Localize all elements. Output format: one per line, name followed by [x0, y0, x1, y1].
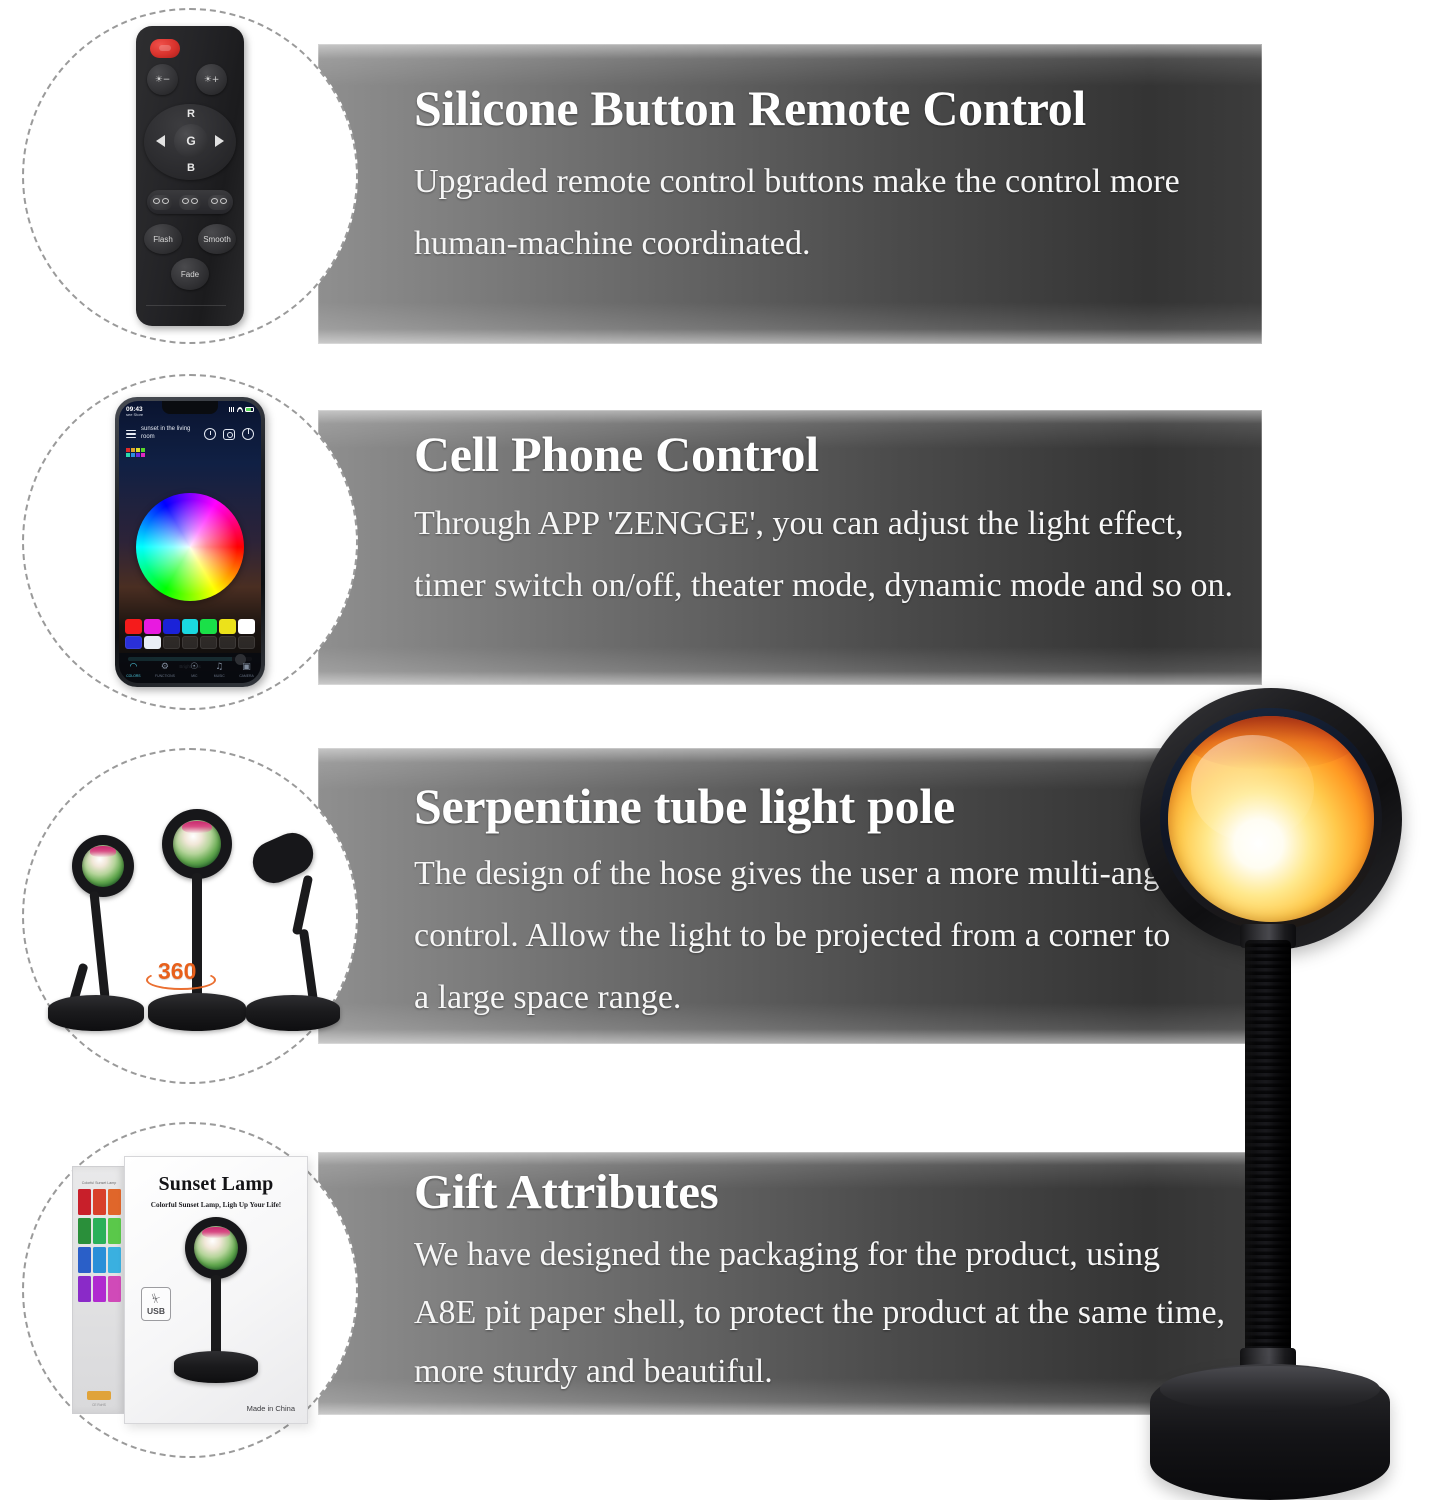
lamp-middle — [144, 809, 248, 1031]
product-photo-remote-control: ☀− ☀+ R G B Flash Smooth Fade — [22, 8, 358, 344]
mini-swatch — [141, 453, 145, 457]
feature-heading-4: Gift Attributes — [414, 1166, 1242, 1218]
feature-body-line: a large space range. — [414, 967, 1242, 1029]
usb-connector-icon: ⏧ — [152, 1293, 161, 1304]
package-swatch — [108, 1276, 121, 1302]
arrow-right-icon — [215, 135, 224, 147]
app-header-icons — [204, 428, 254, 440]
lamp-base — [148, 993, 246, 1031]
preset-button[interactable] — [238, 636, 255, 649]
nav-label: CAMERA — [239, 674, 254, 678]
brightness-down-icon: ☀− — [147, 64, 178, 95]
app-bottom-nav: ◠ COLORS ⚙ FUNCTIONS ☉ MIC ♫ MUSIC ▣ C — [119, 653, 261, 683]
swatch-cyan[interactable] — [182, 619, 199, 634]
lamp-gooseneck — [89, 891, 109, 999]
product-photo-lamp-trio: 360 — [22, 748, 358, 1084]
package-side-title: Colorful Sunset Lamp — [76, 1181, 122, 1185]
hero-lamp-ring — [1160, 708, 1382, 930]
mini-swatch — [141, 448, 145, 452]
package-swatch — [93, 1218, 106, 1244]
lamp-gooseneck — [292, 875, 313, 936]
preset-button[interactable] — [219, 636, 236, 649]
package-swatch-row — [76, 1218, 122, 1244]
product-photo-phone-app: 09:43 see Store sunset in the living roo… — [22, 374, 358, 710]
mini-swatch — [136, 448, 140, 452]
feature-body-line: more sturdy and beautiful. — [414, 1343, 1242, 1401]
preset-button[interactable] — [182, 636, 199, 649]
feature-body-line: control. Allow the light to be projected… — [414, 905, 1242, 967]
nav-label: FUNCTIONS — [155, 674, 175, 678]
nav-item-functions[interactable]: ⚙ FUNCTIONS — [155, 662, 175, 678]
nav-item-music[interactable]: ♫ MUSIC — [214, 662, 225, 678]
remote-control-device: ☀− ☀+ R G B Flash Smooth Fade — [136, 26, 244, 326]
mini-swatch — [126, 453, 130, 457]
lamp-right — [246, 835, 340, 1031]
swatch-red[interactable] — [125, 619, 142, 634]
lamp-lens — [173, 820, 221, 868]
camera-icon: ▣ — [241, 662, 251, 672]
package-front-panel: Sunset Lamp Colorful Sunset Lamp, Ligh U… — [124, 1156, 308, 1424]
mini-swatch-row — [126, 453, 148, 457]
package-swatch — [93, 1276, 106, 1302]
brightness-up-icon: ☀+ — [196, 64, 227, 95]
feature-body-line: A8E pit paper shell, to protect the prod… — [414, 1284, 1242, 1342]
mini-swatch-grid — [126, 448, 148, 458]
app-header: sunset in the living room — [119, 421, 261, 447]
hamburger-line — [126, 433, 136, 435]
feature-body-line: Upgraded remote control buttons make the… — [414, 151, 1242, 213]
hero-lamp-gooseneck — [1245, 940, 1291, 1360]
package-swatch — [78, 1189, 91, 1215]
feature-body-line: timer switch on/off, theater mode, dynam… — [414, 555, 1242, 617]
battery-cover-seam — [146, 305, 226, 306]
nav-label: COLORS — [126, 674, 140, 678]
mini-swatch — [136, 453, 140, 457]
package-swatch — [78, 1218, 91, 1244]
nav-item-camera[interactable]: ▣ CAMERA — [239, 662, 254, 678]
color-swatch-row — [125, 619, 255, 634]
mini-swatch — [126, 448, 130, 452]
feature-band-1: Silicone Button Remote Control Upgraded … — [318, 44, 1262, 344]
lamp-base — [174, 1351, 258, 1383]
mini-swatch — [131, 448, 135, 452]
package-swatch-row — [76, 1276, 122, 1302]
feature-band-4: Gift Attributes We have designed the pac… — [318, 1152, 1262, 1415]
hero-lamp-lens-sunset — [1168, 716, 1374, 922]
app-device-title: sunset in the living room — [141, 426, 199, 442]
lamp-gooseneck — [299, 929, 318, 1004]
swatch-magenta[interactable] — [144, 619, 161, 634]
smooth-button: Smooth — [198, 224, 236, 254]
carrier-label: see Store — [126, 412, 143, 417]
swatch-white[interactable] — [238, 619, 255, 634]
preset-button[interactable] — [163, 636, 180, 649]
pad-label-blue: B — [187, 162, 195, 174]
pad-label-red: R — [187, 108, 195, 120]
remote-direction-pad: R G B — [144, 104, 236, 180]
package-side-footer: CE RoHS — [76, 1403, 122, 1407]
feature-body-line: Through APP 'ZENGGE', you can adjust the… — [414, 493, 1242, 555]
feature-band-3: Serpentine tube light pole The design of… — [318, 748, 1262, 1044]
color-wheel-picker[interactable] — [136, 493, 244, 601]
lamp-head — [185, 1217, 247, 1279]
feature-body-line: The design of the hose gives the user a … — [414, 843, 1242, 905]
rotation-360-badge: 360 — [158, 958, 196, 985]
nav-item-colors[interactable]: ◠ COLORS — [126, 662, 140, 678]
package-swatch — [93, 1189, 106, 1215]
color-wave-icon: ◠ — [128, 662, 138, 672]
remote-power-button — [150, 39, 180, 58]
swatch-yellow[interactable] — [219, 619, 236, 634]
status-icons — [229, 407, 254, 412]
package-swatch — [108, 1218, 121, 1244]
mini-swatch-row — [126, 448, 148, 452]
package-swatch — [78, 1247, 91, 1273]
gear-icon: ⚙ — [160, 662, 170, 672]
mode-face-icon — [150, 195, 172, 210]
lamp-left — [48, 835, 144, 1031]
feature-body-3: The design of the hose gives the user a … — [414, 843, 1242, 1029]
package-side-panel: Colorful Sunset Lamp CE — [72, 1166, 126, 1414]
preset-button[interactable] — [125, 636, 142, 649]
hero-sunset-lamp — [1140, 688, 1438, 1500]
usb-badge: ⏧ USB — [141, 1287, 171, 1321]
nav-label: MIC — [191, 674, 197, 678]
package-title: Sunset Lamp — [135, 1173, 297, 1196]
package-box: Colorful Sunset Lamp CE — [72, 1156, 308, 1424]
fade-button: Fade — [171, 258, 209, 290]
hamburger-line — [126, 437, 136, 439]
usb-label: USB — [147, 1306, 165, 1316]
feature-heading-1: Silicone Button Remote Control — [414, 82, 1242, 135]
feature-body-line: We have designed the packaging for the p… — [414, 1226, 1242, 1284]
lamp-head — [72, 835, 134, 897]
swatch-green[interactable] — [200, 619, 217, 634]
package-swatch-row — [76, 1189, 122, 1215]
lamp-head — [162, 809, 232, 879]
lamp-lens — [82, 845, 124, 887]
microphone-icon: ☉ — [189, 662, 199, 672]
lamp-lens — [194, 1226, 238, 1270]
package-side-badge — [87, 1391, 111, 1400]
package-subtitle: Colorful Sunset Lamp, Ligh Up Your Life! — [135, 1201, 297, 1209]
feature-body-2: Through APP 'ZENGGE', you can adjust the… — [414, 493, 1242, 617]
package-swatch — [93, 1247, 106, 1273]
feature-body-1: Upgraded remote control buttons make the… — [414, 151, 1242, 275]
nav-label: MUSIC — [214, 674, 225, 678]
phone-screen: 09:43 see Store sunset in the living roo… — [119, 401, 261, 683]
music-note-icon: ♫ — [214, 662, 224, 672]
remote-mode-button-group — [147, 190, 233, 214]
hamburger-line — [126, 430, 136, 432]
lamp-base — [246, 995, 340, 1031]
mode-face-icon — [179, 195, 201, 210]
feature-body-4: We have designed the packaging for the p… — [414, 1226, 1242, 1401]
made-in-label: Made in China — [247, 1404, 295, 1413]
package-swatch — [108, 1247, 121, 1273]
lamp-gooseneck — [211, 1275, 221, 1361]
wifi-icon — [237, 407, 243, 412]
package-swatch — [78, 1276, 91, 1302]
feature-heading-3: Serpentine tube light pole — [414, 780, 1242, 833]
hero-lamp-head — [1140, 688, 1402, 950]
power-icon[interactable] — [242, 428, 254, 440]
mini-swatch — [131, 453, 135, 457]
flash-button: Flash — [144, 224, 182, 254]
hamburger-menu-icon[interactable] — [126, 430, 136, 439]
smartphone-device: 09:43 see Store sunset in the living roo… — [115, 397, 265, 687]
battery-icon — [245, 407, 254, 412]
signal-icon — [229, 407, 235, 412]
preset-button[interactable] — [200, 636, 217, 649]
package-swatch — [108, 1189, 121, 1215]
camera-icon[interactable] — [223, 429, 235, 440]
feature-heading-2: Cell Phone Control — [414, 428, 1242, 481]
hero-lamp-base — [1150, 1364, 1390, 1500]
feature-body-line: human-machine coordinated. — [414, 213, 1242, 275]
pad-label-green: G — [174, 124, 208, 158]
preset-button[interactable] — [144, 636, 161, 649]
package-lamp-illustration — [161, 1217, 271, 1397]
product-photo-package-box: Colorful Sunset Lamp CE — [22, 1122, 358, 1458]
swatch-blue[interactable] — [163, 619, 180, 634]
feature-band-2: Cell Phone Control Through APP 'ZENGGE',… — [318, 410, 1262, 685]
preset-button-row — [125, 636, 255, 649]
timer-icon[interactable] — [204, 428, 216, 440]
lamp-base — [48, 995, 144, 1031]
lamp-trio-group: 360 — [40, 801, 340, 1031]
mode-face-icon — [208, 195, 230, 210]
arrow-left-icon — [156, 135, 165, 147]
package-swatch-row — [76, 1247, 122, 1273]
nav-item-mic[interactable]: ☉ MIC — [189, 662, 199, 678]
